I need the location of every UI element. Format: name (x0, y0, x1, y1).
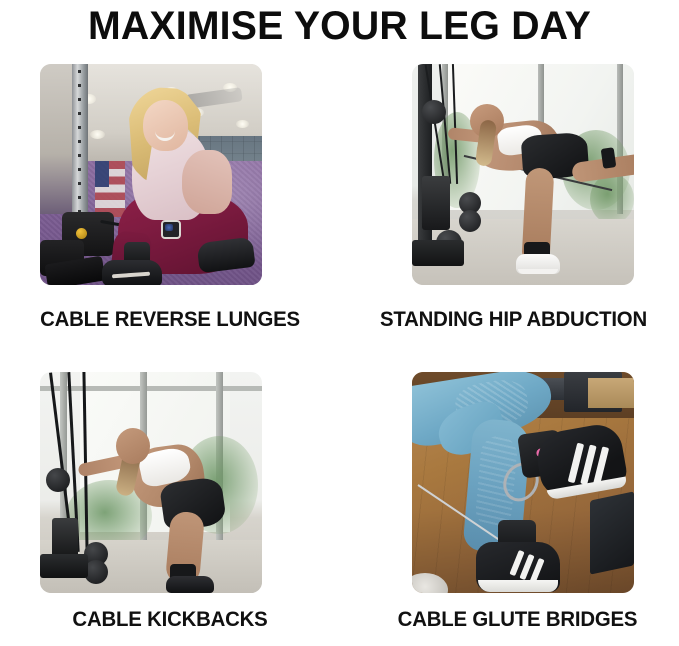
smart-watch (161, 220, 181, 239)
cable-kickbacks-photo (40, 372, 262, 593)
weight-plate (422, 100, 446, 124)
head (116, 428, 150, 464)
weight-plate (459, 210, 481, 232)
exercise-card-cable-reverse-lunges[interactable]: CABLE REVERSE LUNGES (0, 56, 340, 348)
ankle-strap (601, 147, 617, 169)
white-sneaker (516, 254, 560, 274)
training-shoe (102, 260, 162, 285)
standing-hip-abduction-photo (412, 64, 634, 285)
exercise-caption: CABLE GLUTE BRIDGES (353, 608, 679, 632)
exercise-card-cable-glute-bridges[interactable]: CABLE GLUTE BRIDGES (340, 356, 679, 646)
exercise-grid: CABLE REVERSE LUNGES (0, 56, 679, 646)
weight-stack (422, 176, 450, 230)
exercise-card-cable-kickbacks[interactable]: CABLE KICKBACKS (0, 356, 340, 646)
cable-glute-bridges-photo (412, 372, 634, 593)
cable-reverse-lunges-photo (40, 64, 262, 285)
machine-base (40, 554, 88, 578)
exercise-caption: CABLE KICKBACKS (5, 608, 335, 632)
ceiling-light (236, 120, 249, 128)
shoe-sole (478, 580, 558, 592)
face (143, 100, 188, 151)
floor-mat (590, 491, 634, 574)
shoulder-arm (182, 150, 232, 214)
adjustment-knob (76, 228, 87, 239)
usa-flag (95, 161, 125, 217)
training-shoe (166, 576, 214, 593)
machine-base (412, 240, 464, 266)
cable-machine-post (72, 64, 88, 232)
cable-pulley (46, 468, 70, 492)
training-shoe-lower (476, 542, 560, 592)
gym-mirror (40, 64, 72, 214)
exercise-caption: CABLE REVERSE LUNGES (5, 308, 335, 332)
potted-plant (590, 174, 634, 224)
weight-stack (52, 518, 78, 558)
page-title: MAXIMISE YOUR LEG DAY (7, 0, 672, 56)
wall (588, 378, 634, 408)
exercise-card-standing-hip-abduction[interactable]: STANDING HIP ABDUCTION (340, 56, 679, 348)
exercise-caption: STANDING HIP ABDUCTION (349, 308, 678, 332)
ceiling-light (90, 130, 105, 139)
